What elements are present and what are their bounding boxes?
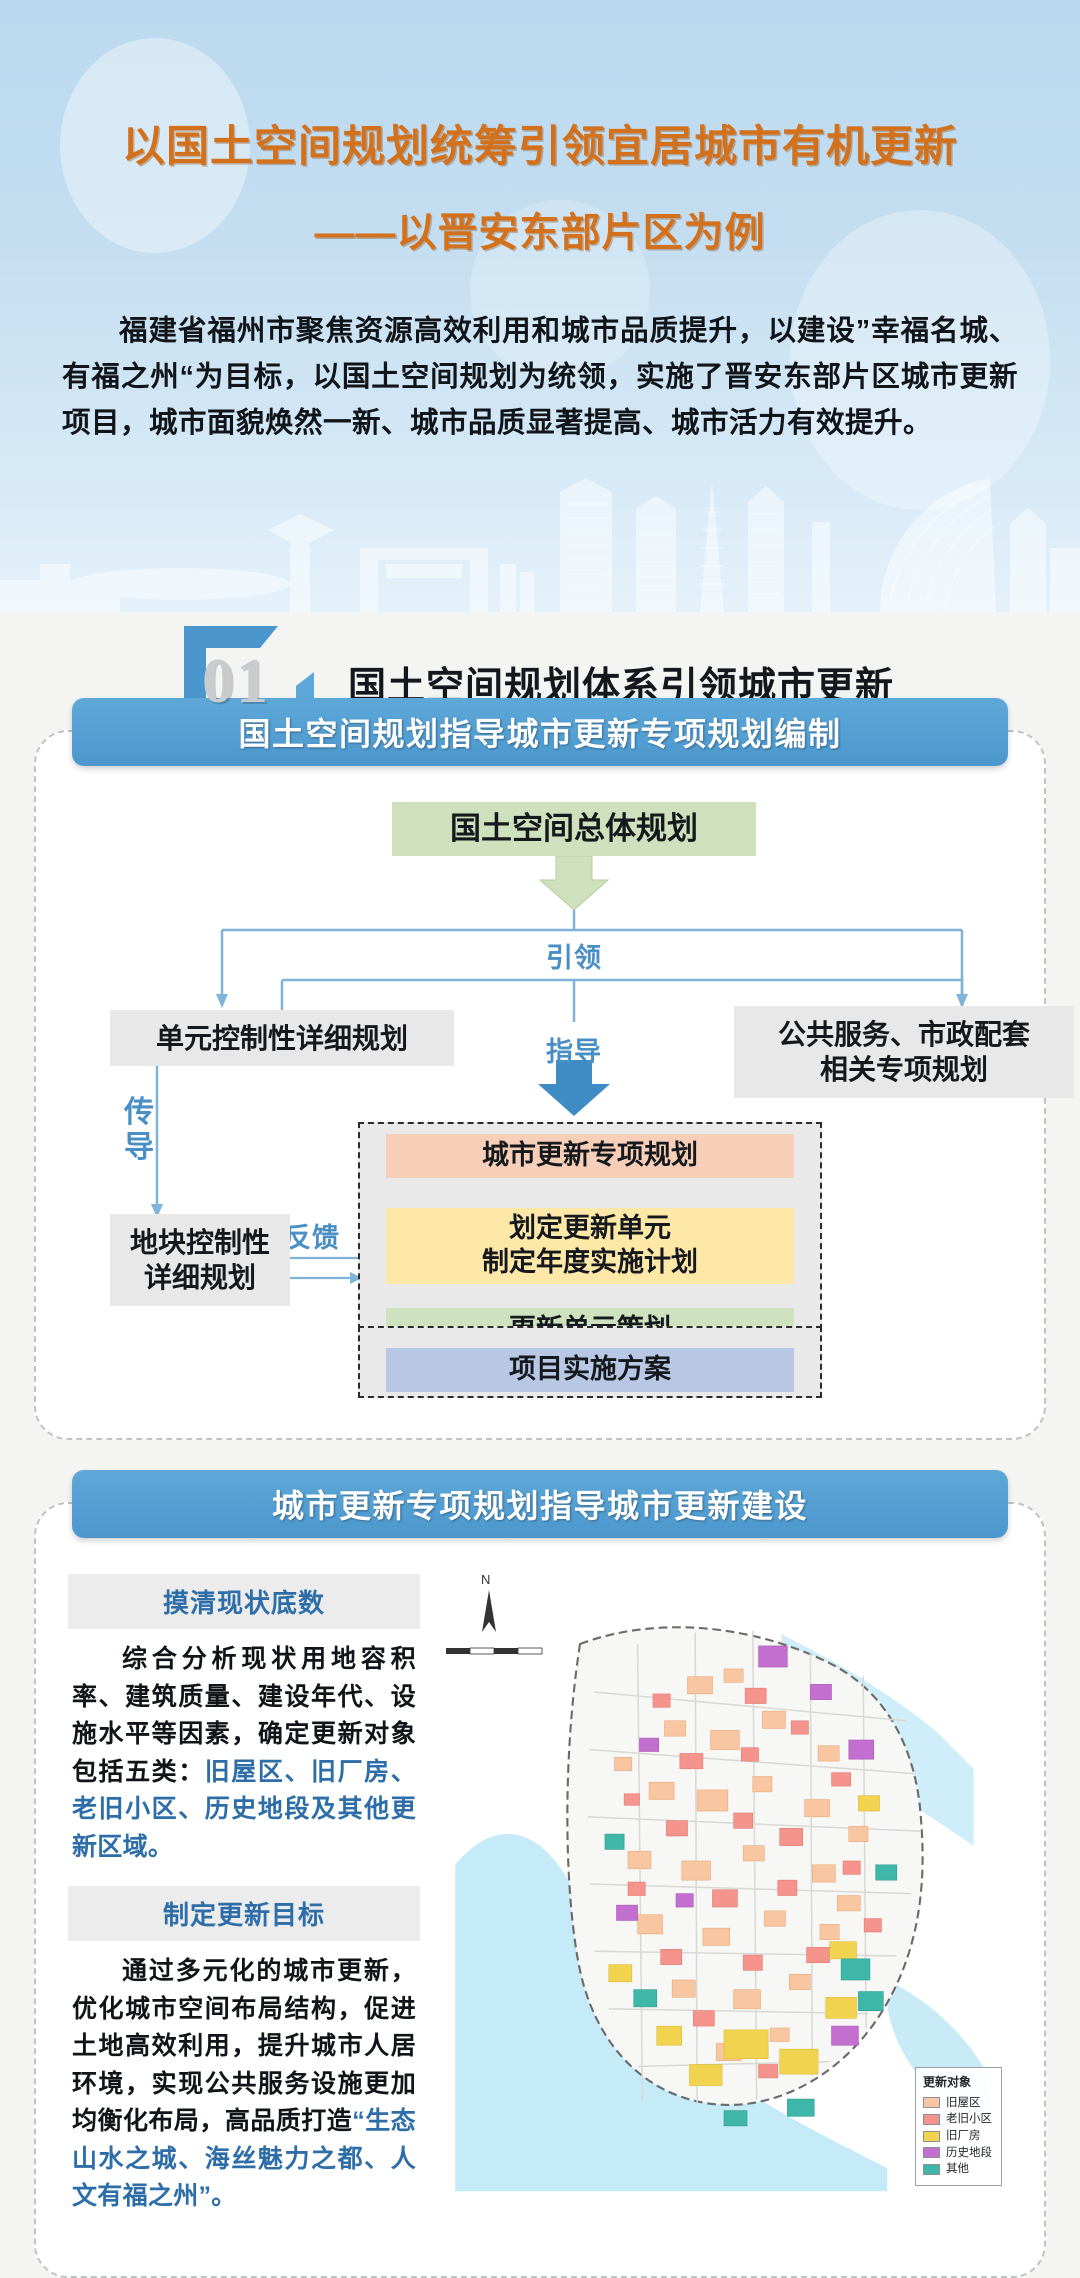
planning-flowchart: 国土空间总体规划 引领 单元控制性详细规划 公共服务、市政配套 相关专项规划 指… xyxy=(62,784,1074,1344)
city-skyline-illustration xyxy=(0,452,1080,612)
page-subtitle: ——以晋安东部片区为例 xyxy=(0,200,1080,258)
legend-swatch xyxy=(923,2131,940,2142)
page-title: 以国土空间规划统筹引领宜居城市有机更新 xyxy=(0,0,1080,174)
subheading-survey: 摸清现状底数 xyxy=(68,1574,420,1629)
renewal-map-column: N xyxy=(436,1564,1012,2236)
flow-label-transmit: 传 导 xyxy=(124,1096,155,1165)
subheading-goals: 制定更新目标 xyxy=(68,1886,420,1941)
svg-text:N: N xyxy=(481,1572,490,1587)
planning-flowchart-tail: 项目实施方案 xyxy=(62,1338,1074,1408)
content-body: 01 国土空间规划体系引领城市更新 国土空间规划指导城市更新专项规划编制 xyxy=(0,612,1080,2278)
north-arrow-icon: N xyxy=(462,1570,516,1640)
legend-swatch xyxy=(923,2114,940,2125)
legend-label: 旧屋区 xyxy=(946,2095,981,2112)
legend-item: 其他 xyxy=(923,2161,992,2178)
goals-paragraph: 通过多元化的城市更新，优化城市空间布局结构，促进土地高效利用，提升城市人居环境，… xyxy=(72,1953,416,2216)
map-legend: 更新对象 旧屋区 老旧小区 旧厂房 xyxy=(915,2067,1002,2186)
flow-urban-renewal-plan: 城市更新专项规划 xyxy=(386,1134,794,1178)
legend-label: 老旧小区 xyxy=(946,2111,992,2128)
renewal-text-column: 摸清现状底数 综合分析现状用地容积率、建筑质量、建设年代、设施水平等因素，确定更… xyxy=(68,1564,420,2236)
flow-plot-control-plan: 地块控制性 详细规划 xyxy=(110,1214,290,1306)
flow-define-unit: 划定更新单元 制定年度实施计划 xyxy=(386,1208,794,1284)
hero-section: 以国土空间规划统筹引领宜居城市有机更新 ——以晋安东部片区为例 福建省福州市聚焦… xyxy=(0,0,1080,612)
map-scale-bar xyxy=(444,1638,554,1664)
legend-title: 更新对象 xyxy=(923,2074,992,2091)
flow-label-lead: 引领 xyxy=(546,936,602,975)
flow-unit-control-plan: 单元控制性详细规划 xyxy=(110,1010,454,1066)
legend-swatch xyxy=(923,2097,940,2108)
legend-item: 历史地段 xyxy=(923,2145,992,2162)
renewal-map[interactable]: N xyxy=(436,1564,1012,2204)
survey-paragraph: 综合分析现状用地容积率、建筑质量、建设年代、设施水平等因素，确定更新对象包括五类… xyxy=(72,1641,416,1866)
legend-swatch xyxy=(923,2164,940,2175)
flow-label-feedback: 反馈 xyxy=(284,1216,340,1255)
legend-swatch xyxy=(923,2147,940,2158)
section-number: 01 xyxy=(202,644,270,718)
flow-master-plan: 国土空间总体规划 xyxy=(392,802,756,856)
flow-implementation-plan: 项目实施方案 xyxy=(386,1348,794,1392)
legend-label: 历史地段 xyxy=(946,2145,992,2162)
flow-public-service-plan: 公共服务、市政配套 相关专项规划 xyxy=(734,1006,1074,1098)
legend-item: 老旧小区 xyxy=(923,2111,992,2128)
intro-paragraph: 福建省福州市聚焦资源高效利用和城市品质提升，以建设”幸福名城、有福之州“为目标，… xyxy=(62,308,1018,446)
legend-item: 旧厂房 xyxy=(923,2128,992,2145)
flow-label-guide: 指导 xyxy=(546,1030,602,1069)
card-renewal-construction: 城市更新专项规划指导城市更新建设 摸清现状底数 综合分析现状用地容积率、建筑质量… xyxy=(34,1502,1046,2278)
legend-label: 旧厂房 xyxy=(946,2128,981,2145)
card2-banner: 城市更新专项规划指导城市更新建设 xyxy=(72,1470,1008,1538)
infographic-page: 以国土空间规划统筹引领宜居城市有机更新 ——以晋安东部片区为例 福建省福州市聚焦… xyxy=(0,0,1080,2278)
legend-item: 旧屋区 xyxy=(923,2095,992,2112)
card-planning-system: 国土空间规划指导城市更新专项规划编制 xyxy=(34,730,1046,1440)
legend-label: 其他 xyxy=(946,2161,969,2178)
